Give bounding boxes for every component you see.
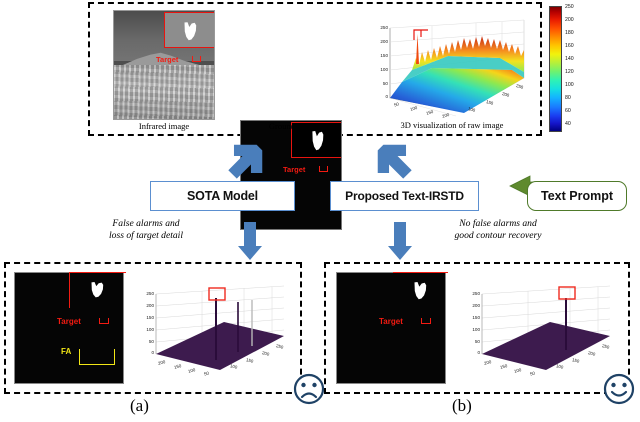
colorbar-tick-6: 100 [565, 82, 574, 88]
surface-z-tick-150: 150 [372, 53, 388, 58]
left-note-line2: loss of target detail [76, 230, 216, 242]
colorbar-tick-3: 160 [565, 43, 574, 49]
colorbar-tick-2: 180 [565, 30, 574, 36]
result-a-zoom-box [69, 272, 126, 308]
result-a-z-tick-200: 200 [134, 303, 154, 308]
result-b-target-blob [413, 282, 428, 300]
result-b-caption: (b) [452, 396, 472, 416]
infrared-image-caption: Infrared image [113, 121, 215, 131]
right-note-line2: good contour recovery [418, 230, 578, 242]
result-a-mask-image: Target FA [14, 272, 124, 384]
surface-z-tick-0: 0 [372, 94, 388, 99]
result-a-z-tick-100: 100 [134, 327, 154, 332]
result-a-target-pointer [99, 318, 109, 324]
result-a-target-blob [90, 282, 105, 298]
colorbar-tick-9: 40 [565, 121, 571, 127]
result-b-target-label: Target [379, 317, 403, 326]
result-a-target-label: Target [57, 317, 81, 326]
colorbar-tick-7: 80 [565, 95, 571, 101]
text-prompt-box[interactable]: Text Prompt [527, 181, 627, 211]
result-b-z-tick-50: 50 [460, 339, 480, 344]
result-b-z-tick-0: 0 [460, 350, 480, 355]
happy-face-icon [602, 372, 636, 406]
result-a-z-tick-50: 50 [134, 339, 154, 344]
proposed-text-irstd-box[interactable]: Proposed Text-IRSTD [330, 181, 479, 211]
sad-face-icon [292, 372, 326, 406]
result-a-false-alarm-label: FA [61, 347, 71, 356]
infrared-target-pointer [192, 56, 201, 62]
result-b-z-tick-150: 150 [460, 315, 480, 320]
infrared-target-label: Target [156, 55, 178, 64]
surface-x-tick-4: 200 [441, 112, 450, 118]
colorbar [549, 6, 562, 132]
surface-plot-3d: 250 200 150 100 50 0 50 100 150 200 100 … [372, 12, 532, 118]
left-pipeline-note: False alarms and loss of target detail [76, 218, 216, 242]
result-b-mask-image: Target [336, 272, 446, 384]
infrared-terrain [114, 65, 214, 119]
right-down-arrow [388, 222, 412, 260]
colorbar-tick-8: 60 [565, 108, 571, 114]
infrared-zoom-box [164, 12, 215, 48]
result-a-sparse-plot: 250 200 150 100 50 0 200 150 100 50 100 … [132, 272, 290, 384]
colorbar-tick-4: 140 [565, 56, 574, 62]
left-note-line1: False alarms and [76, 218, 216, 230]
ground-truth-caption: Ground truth [240, 121, 342, 131]
result-a-false-alarm-bracket [79, 349, 115, 365]
surface-z-tick-50: 50 [372, 81, 388, 86]
result-b-z-tick-250: 250 [460, 291, 480, 296]
result-a-z-tick-250: 250 [134, 291, 154, 296]
surface-plot-caption: 3D visualization of raw image [372, 120, 532, 130]
colorbar-tick-1: 200 [565, 17, 574, 23]
right-pipeline-note: No false alarms and good contour recover… [418, 218, 578, 242]
colorbar-tick-5: 120 [565, 69, 574, 75]
surface-z-tick-200: 200 [372, 39, 388, 44]
sota-model-box[interactable]: SOTA Model [150, 181, 295, 211]
result-b-zoom-box [393, 272, 448, 304]
result-b-sparse-plot: 250 200 150 100 50 0 200 150 100 50 100 … [456, 272, 616, 384]
result-a-z-tick-150: 150 [134, 315, 154, 320]
infrared-target-blob [183, 22, 198, 41]
colorbar-tick-0: 250 [565, 4, 574, 10]
result-a-z-tick-0: 0 [134, 350, 154, 355]
result-b-target-pointer [421, 318, 431, 324]
infrared-image: Target [113, 10, 215, 120]
result-b-z-tick-100: 100 [460, 327, 480, 332]
left-down-arrow [238, 222, 262, 260]
surface-z-tick-100: 100 [372, 67, 388, 72]
right-note-line1: No false alarms and [418, 218, 578, 230]
result-b-z-tick-200: 200 [460, 303, 480, 308]
result-a-caption: (a) [130, 396, 149, 416]
surface-z-tick-250: 250 [372, 25, 388, 30]
